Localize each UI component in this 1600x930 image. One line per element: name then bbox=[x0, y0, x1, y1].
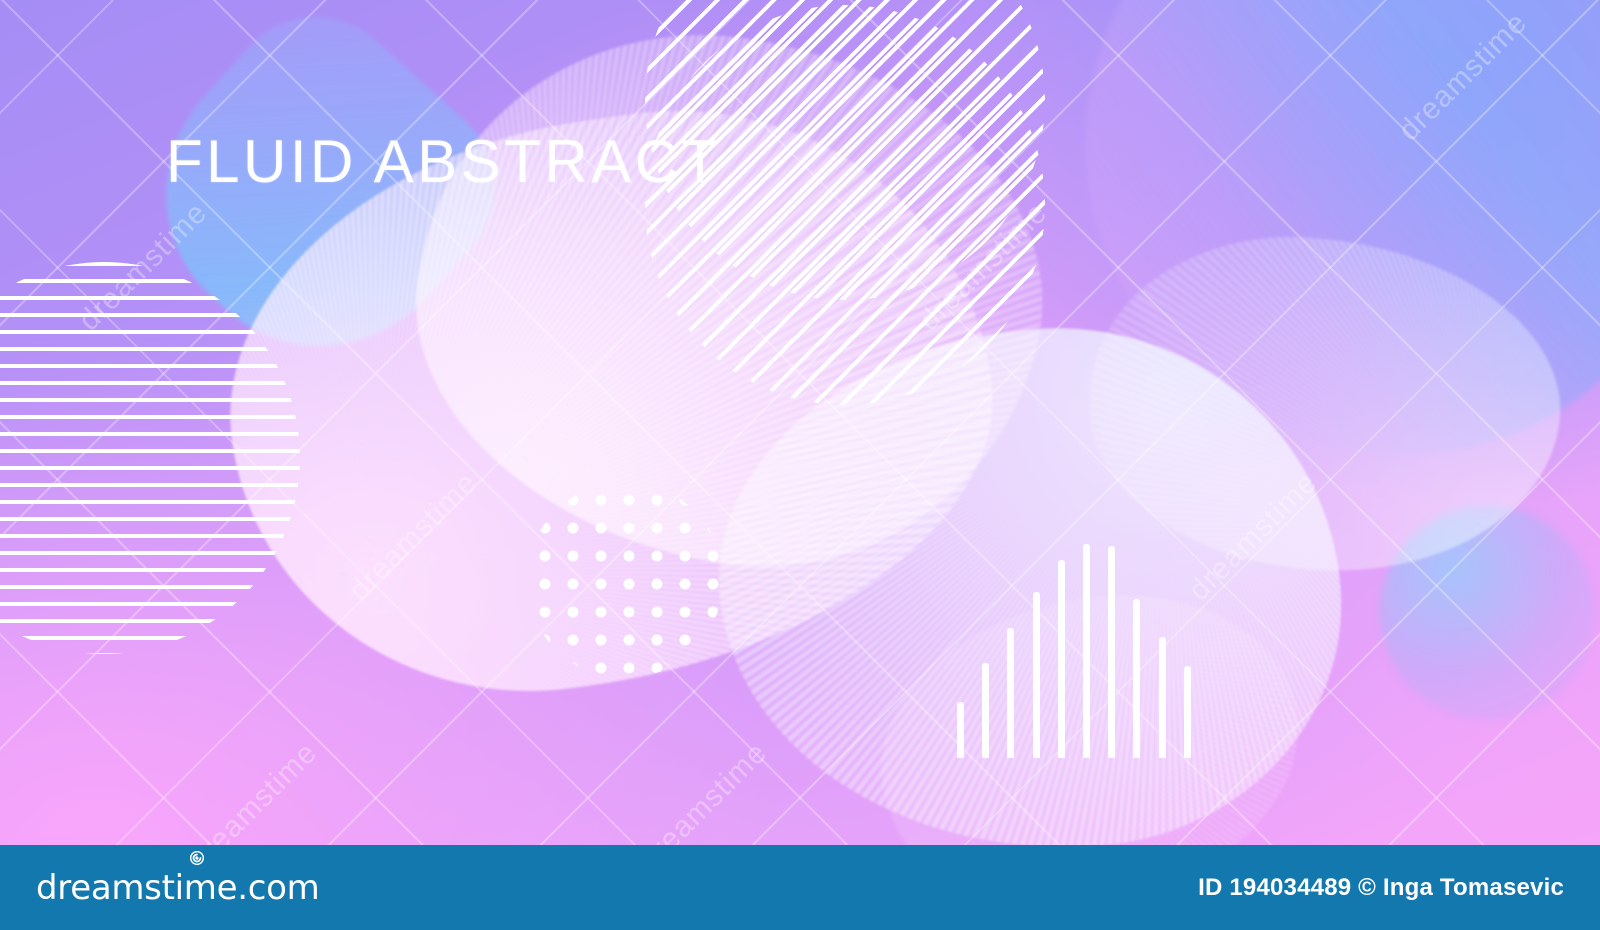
artwork-area: FLUID ABSTRACT dreamstimedreamstimedream… bbox=[0, 0, 1600, 845]
spiral-logo-icon bbox=[188, 849, 206, 867]
stock-image-canvas: FLUID ABSTRACT dreamstimedreamstimedream… bbox=[0, 0, 1600, 930]
brand-logo[interactable]: dreamstime.com bbox=[36, 868, 319, 908]
brand-label: dreamstime.com bbox=[36, 868, 319, 908]
watermark-crosshatch bbox=[0, 0, 1600, 845]
footer-bar: dreamstime.com ID 194034489 © Inga Tomas… bbox=[0, 845, 1600, 930]
image-credit: ID 194034489 © Inga Tomasevic bbox=[1198, 874, 1564, 902]
watermark-overlay: dreamstimedreamstimedreamstimedreamstime… bbox=[0, 0, 1600, 845]
